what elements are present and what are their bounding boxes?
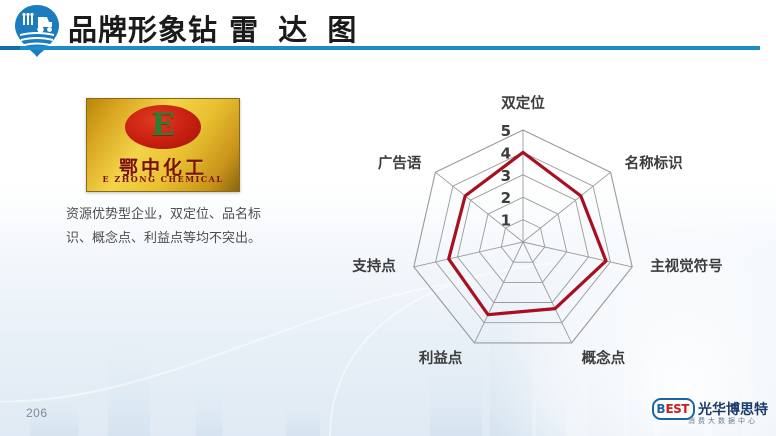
brand-logo: BEST光华博思特 消费大数据中心 bbox=[652, 398, 768, 426]
radar-chart: 12345 双定位名称标识主视觉符号概念点利益点支持点广告语 bbox=[330, 80, 760, 380]
radar-chart-svg: 12345 双定位名称标识主视觉符号概念点利益点支持点广告语 bbox=[330, 80, 760, 380]
page-title-sub: 雷 达 图 bbox=[229, 13, 361, 47]
svg-text:主视觉符号: 主视觉符号 bbox=[650, 257, 723, 275]
logo-mark-letter: E bbox=[151, 110, 175, 141]
description-text: 资源优势型企业，双定位、品名标识、概念点、利益点等均不突出。 bbox=[66, 203, 271, 251]
page-title: 品牌形象钻 雷 达 图 bbox=[68, 7, 361, 49]
svg-text:利益点: 利益点 bbox=[419, 349, 463, 367]
svg-text:支持点: 支持点 bbox=[352, 257, 396, 275]
logo-name-en: E ZHONG CHEMICAL bbox=[87, 174, 239, 184]
svg-text:4: 4 bbox=[501, 144, 511, 162]
page-title-main: 品牌形象钻 bbox=[68, 13, 218, 47]
svg-text:名称标识: 名称标识 bbox=[625, 154, 683, 172]
svg-text:2: 2 bbox=[501, 189, 511, 207]
page-number: 206 bbox=[26, 406, 48, 420]
company-logo: E 鄂中化工 E ZHONG CHEMICAL bbox=[86, 98, 240, 192]
svg-text:概念点: 概念点 bbox=[582, 349, 626, 367]
slide-header: 品牌形象钻 雷 达 图 bbox=[0, 0, 776, 62]
slide-canvas: 品牌形象钻 雷 达 图 E 鄂中化工 E ZHONG CHEMICAL 资源优势… bbox=[0, 0, 776, 436]
header-rule bbox=[20, 46, 760, 50]
svg-text:1: 1 bbox=[501, 212, 511, 230]
svg-text:5: 5 bbox=[501, 122, 511, 140]
brand-subtitle: 消费大数据中心 bbox=[688, 416, 758, 426]
radar-tick-labels: 12345 bbox=[501, 122, 511, 230]
svg-text:3: 3 bbox=[501, 167, 511, 185]
svg-text:双定位: 双定位 bbox=[501, 94, 545, 112]
svg-text:广告语: 广告语 bbox=[378, 154, 422, 172]
brand-letters-est: EST bbox=[665, 402, 689, 416]
header-rule-cap bbox=[0, 46, 20, 50]
